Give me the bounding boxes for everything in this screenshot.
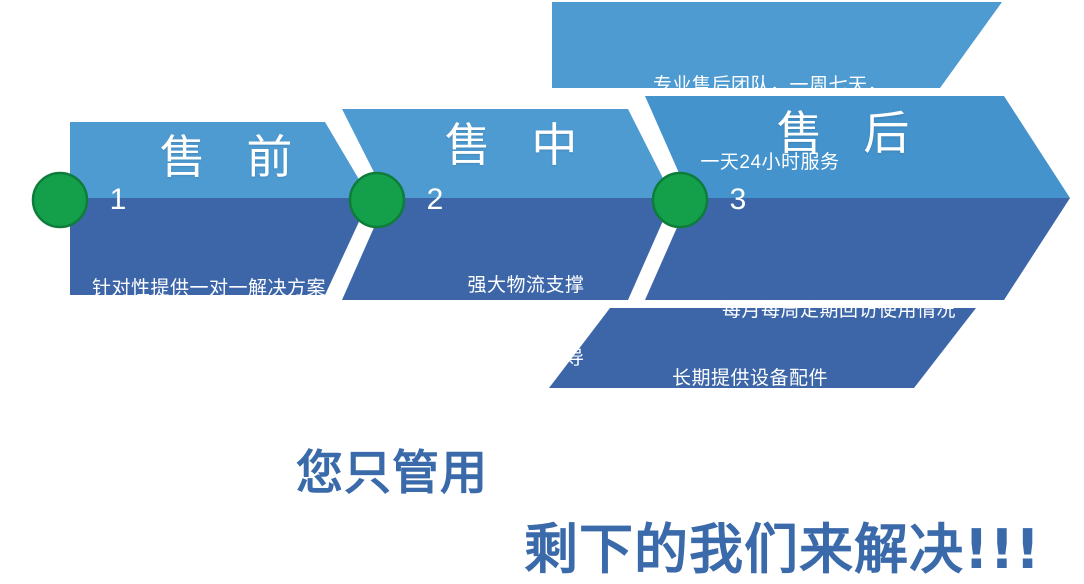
stage-2-title: 售 中 bbox=[418, 116, 618, 175]
stage-1-desc: 针对性提供一对一解决方案 bbox=[75, 228, 343, 350]
tagline-secondary: 剩下的我们来解决!!! bbox=[524, 505, 1041, 584]
bottom-banner-line-1: 长期提供设备配件 bbox=[600, 366, 900, 392]
infographic-canvas: 售 前 售 中 售 后 针对性提供一对一解决方案 强大物流支撑 全程培训指导 每… bbox=[0, 0, 1084, 583]
stage-2-badge-circle-icon bbox=[348, 171, 406, 229]
top-banner-line-1: 专业售后团队，一周七天， bbox=[590, 73, 950, 99]
top-banner-text: 专业售后团队，一周七天， 一天24小时服务 bbox=[590, 22, 950, 227]
stage-3-badge[interactable]: 3 bbox=[651, 171, 709, 229]
stage-1-badge[interactable]: 1 bbox=[31, 171, 89, 229]
stage-2-badge[interactable]: 2 bbox=[348, 171, 406, 229]
top-banner-line-2: 一天24小时服务 bbox=[590, 150, 950, 176]
tagline-primary: 您只管用 bbox=[296, 434, 488, 503]
stage-3-badge-circle-icon bbox=[651, 171, 709, 229]
stage-1-title: 售 前 bbox=[118, 128, 348, 187]
bottom-banner-line-2: 解决后顾之忧 bbox=[600, 443, 900, 469]
stage-1-badge-circle-icon bbox=[31, 171, 89, 229]
bottom-banner-text: 长期提供设备配件 解决后顾之忧 bbox=[600, 315, 900, 520]
stage-1-desc-line-1: 针对性提供一对一解决方案 bbox=[75, 277, 343, 301]
stage-2-desc-line-1: 强大物流支撑 bbox=[400, 274, 652, 298]
